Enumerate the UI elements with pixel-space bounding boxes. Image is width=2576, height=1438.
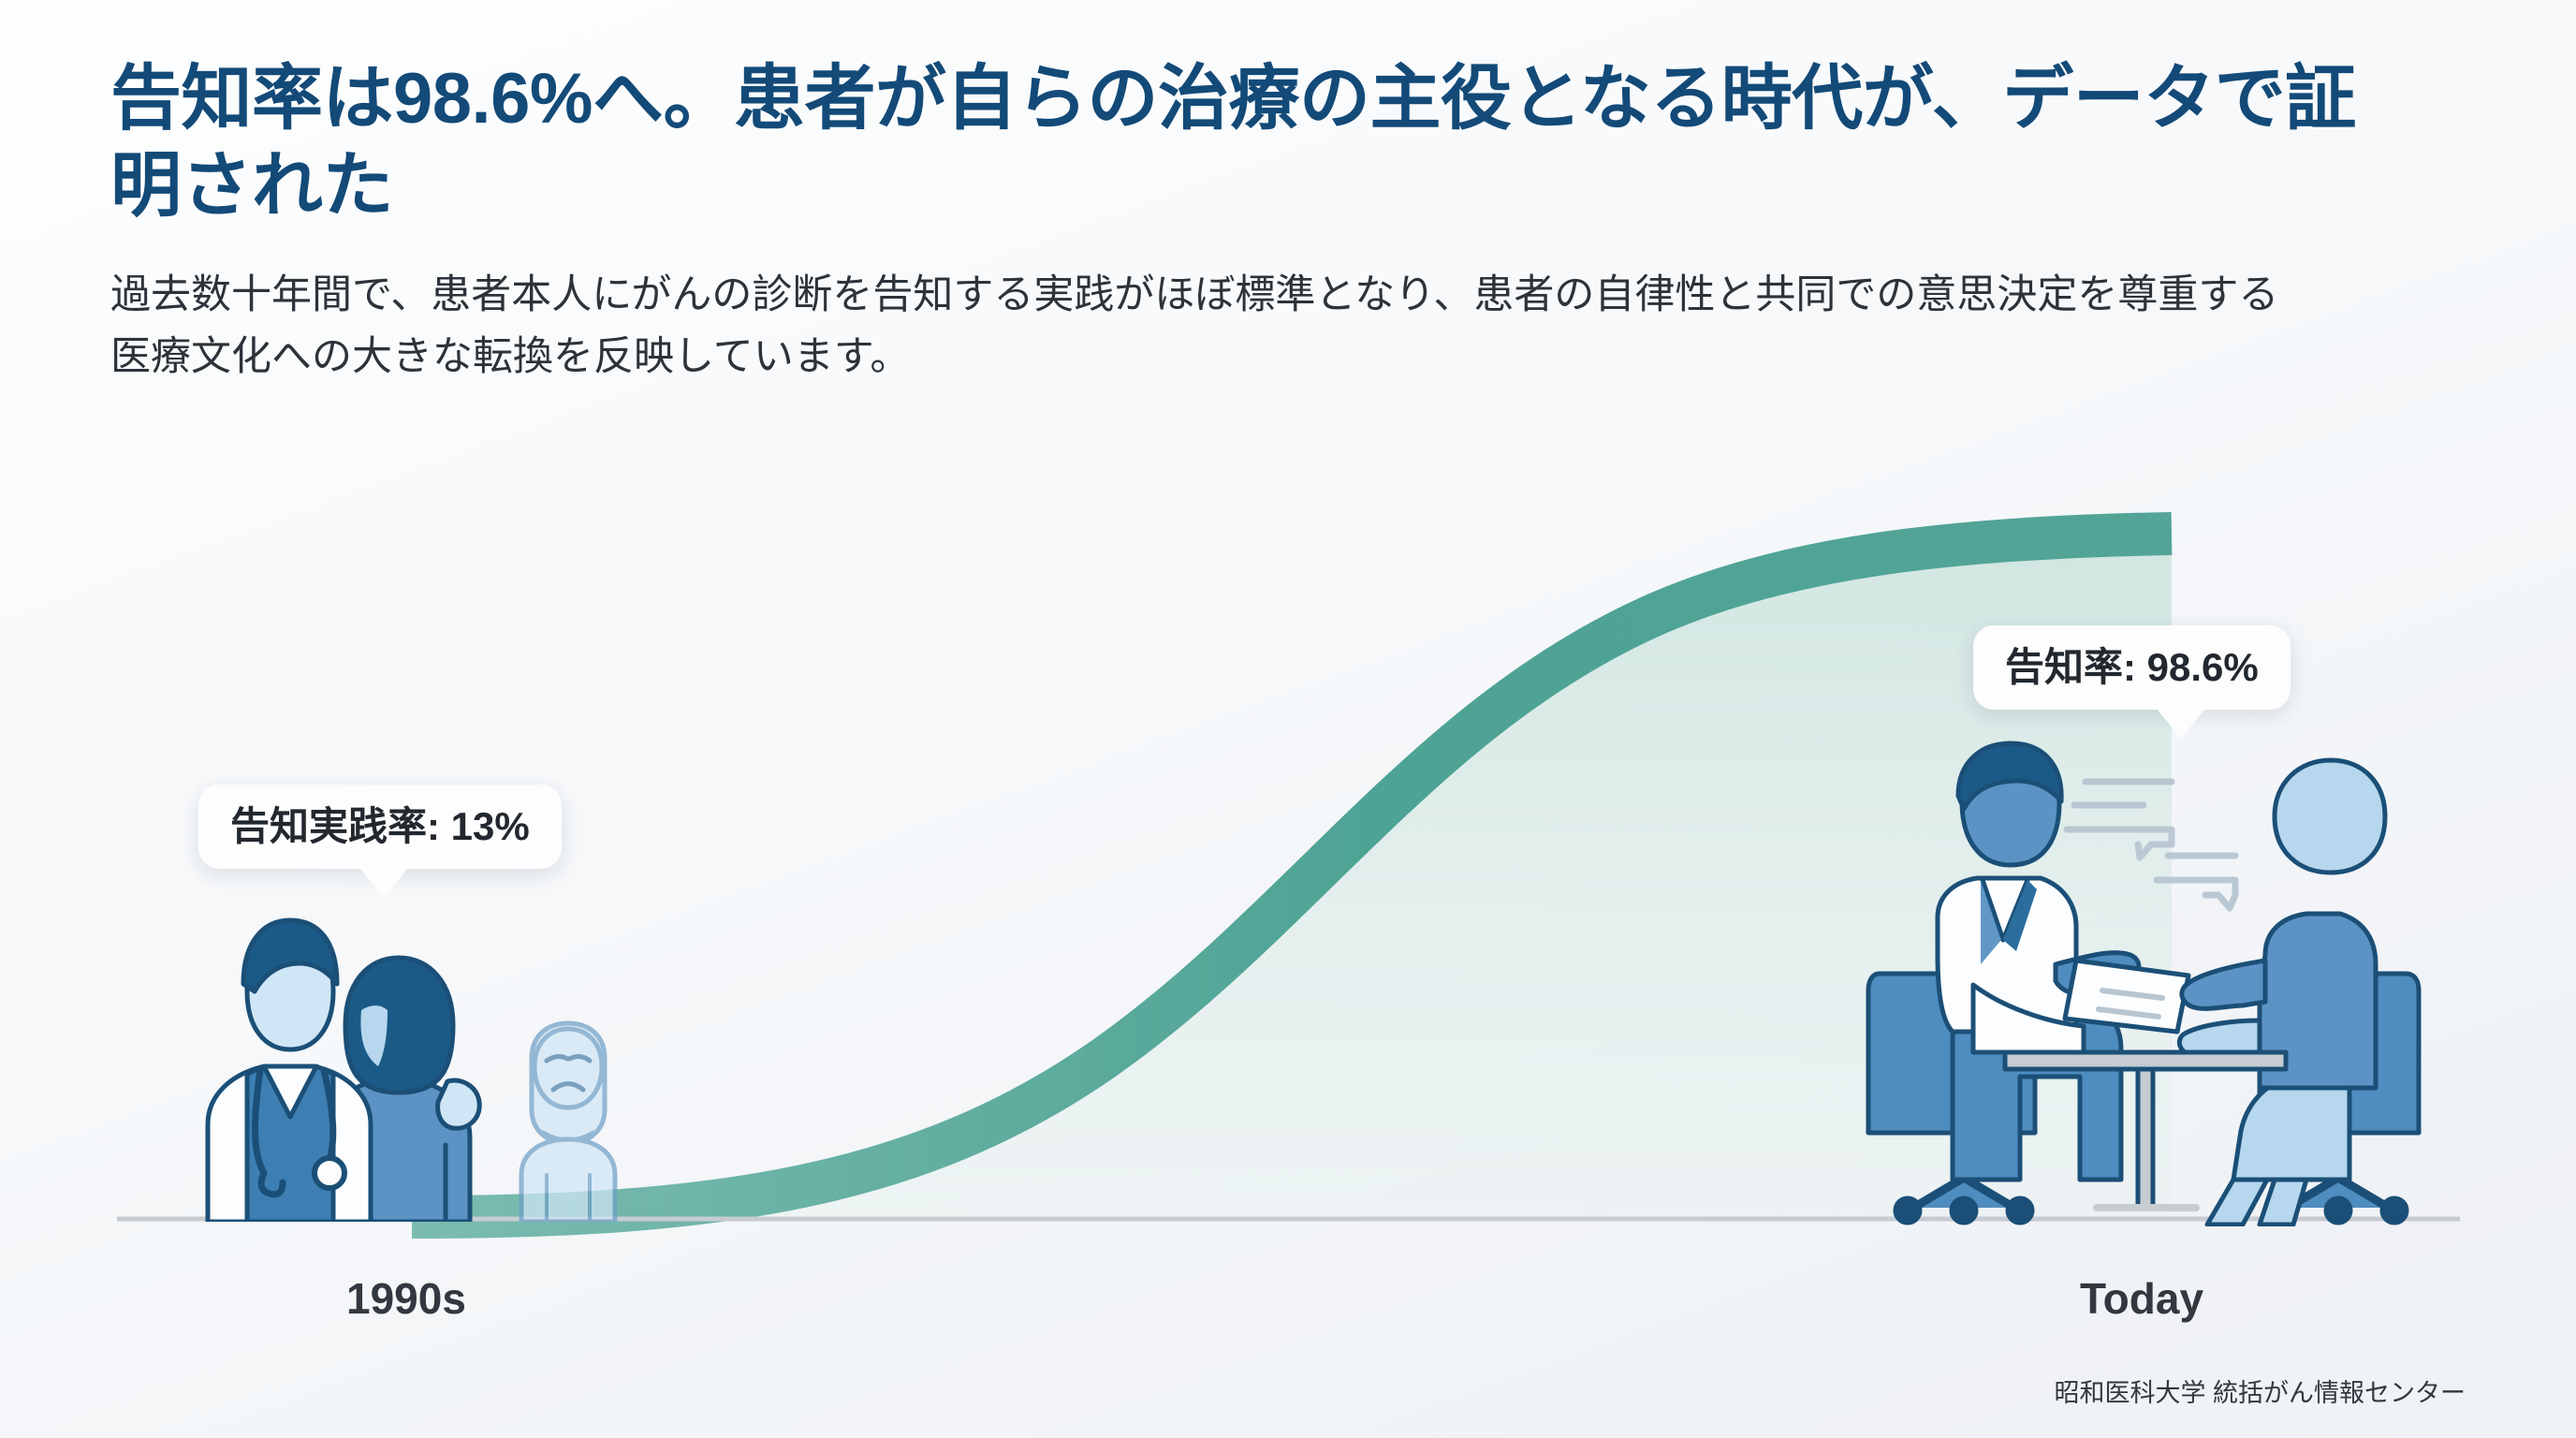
axis-label-1990s: 1990s	[346, 1273, 466, 1324]
page-title: 告知率は98.6%へ。患者が自らの治療の主役となる時代が、データで証明された	[110, 56, 2385, 229]
source-attribution: 昭和医科大学 統括がん情報センター	[2054, 1372, 2466, 1409]
axis-label-today: Today	[2080, 1273, 2203, 1324]
right-scene-svg	[1863, 740, 2424, 1226]
callout-1990s[interactable]: 告知実践率: 13%	[198, 785, 562, 869]
callout-today-label: 告知率: 98.6%	[2005, 645, 2259, 689]
header: 告知率は98.6%へ。患者が自らの治療の主役となる時代が、データで証明された 過…	[110, 56, 2385, 388]
patient-figure	[2179, 760, 2385, 1225]
callout-today[interactable]: 告知率: 98.6%	[1973, 625, 2291, 710]
callout-tail-icon	[2157, 709, 2205, 739]
speech-bubble-icon	[2067, 782, 2172, 858]
speech-bubble-icon	[2157, 856, 2235, 908]
doctor-family-patient-illustration	[150, 894, 711, 1222]
left-scene-svg	[150, 894, 711, 1222]
doctor-figure	[208, 920, 371, 1222]
sad-patient-figure	[521, 1023, 615, 1222]
infographic-canvas: 告知率は98.6%へ。患者が自らの治療の主役となる時代が、データで証明された 過…	[0, 0, 2576, 1438]
doctor-patient-consultation-illustration	[1863, 740, 2424, 1226]
callout-1990s-label: 告知実践率: 13%	[230, 804, 530, 848]
page-subtitle: 過去数十年間で、患者本人にがんの診断を告知する実践がほぼ標準となり、患者の自律性…	[110, 265, 2291, 388]
